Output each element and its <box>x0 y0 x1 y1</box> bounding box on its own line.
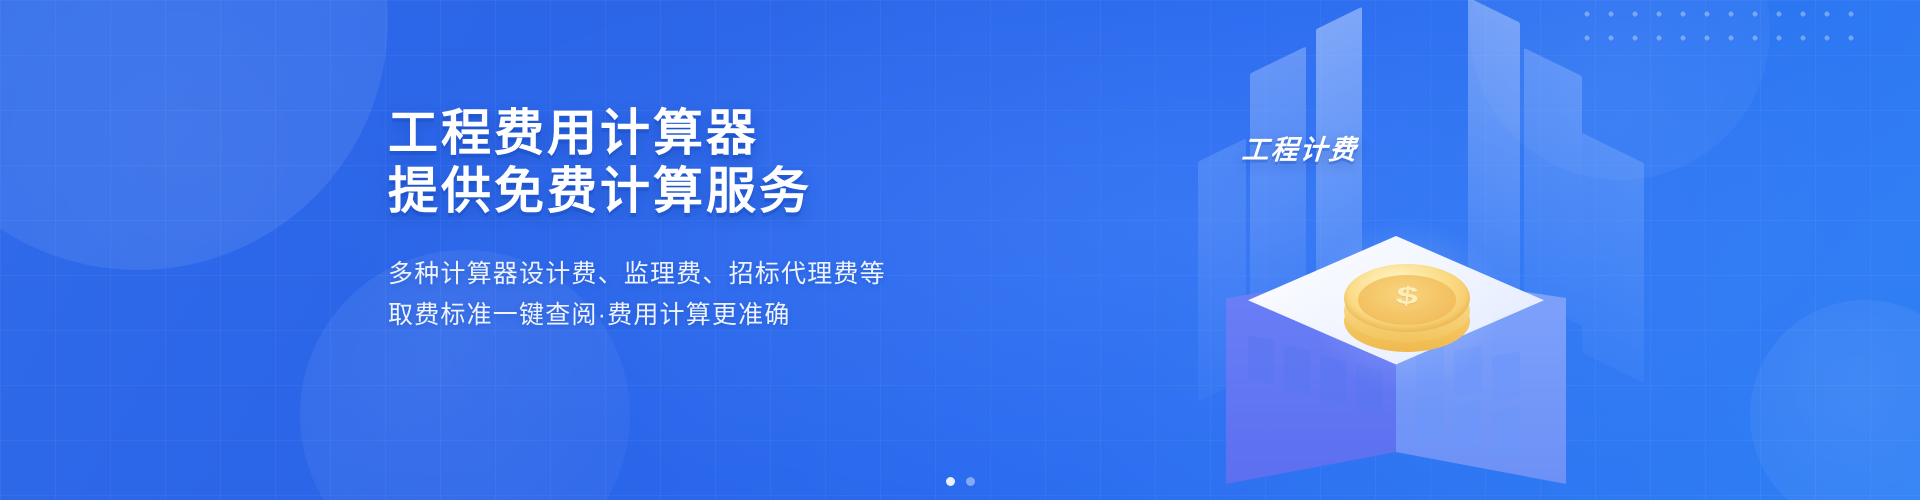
headline-line-1: 工程费用计算器 <box>388 104 948 162</box>
isometric-building: $ <box>1226 248 1566 500</box>
building-window <box>1284 346 1310 395</box>
decorative-circle-top-left <box>0 0 388 270</box>
subtitle-line-1: 多种计算器设计费、监理费、招标代理费等 <box>388 254 948 295</box>
hero-banner: 工程费用计算器 提供免费计算服务 多种计算器设计费、监理费、招标代理费等 取费标… <box>0 0 1920 500</box>
carousel-dot-1[interactable] <box>946 477 955 486</box>
building-window <box>1416 394 1444 445</box>
building-window <box>1356 366 1382 415</box>
decorative-circle-bottom-right <box>1750 300 1920 500</box>
building-window <box>1320 356 1346 405</box>
isometric-illustration: 工程计费 <box>1120 0 1680 500</box>
gold-coin-icon: $ <box>1344 260 1470 364</box>
building-window <box>1454 400 1482 451</box>
banner-subtitle: 多种计算器设计费、监理费、招标代理费等 取费标准一键查阅·费用计算更准确 <box>388 254 948 335</box>
building-window <box>1492 406 1520 457</box>
carousel-indicators[interactable] <box>0 477 1920 486</box>
subtitle-line-2: 取费标准一键查阅·费用计算更准确 <box>388 295 948 336</box>
headline-line-2: 提供免费计算服务 <box>388 162 948 220</box>
page-title: 工程费用计算器 提供免费计算服务 <box>388 104 948 220</box>
banner-copy-block: 工程费用计算器 提供免费计算服务 多种计算器设计费、监理费、招标代理费等 取费标… <box>388 104 948 335</box>
building-window <box>1248 336 1274 385</box>
building-window <box>1492 352 1520 403</box>
illustration-label: 工程计费 <box>1241 128 1360 167</box>
skyline-bar-5 <box>1582 133 1644 383</box>
dollar-sign-icon: $ <box>1341 274 1472 319</box>
carousel-dot-2[interactable] <box>966 477 975 486</box>
